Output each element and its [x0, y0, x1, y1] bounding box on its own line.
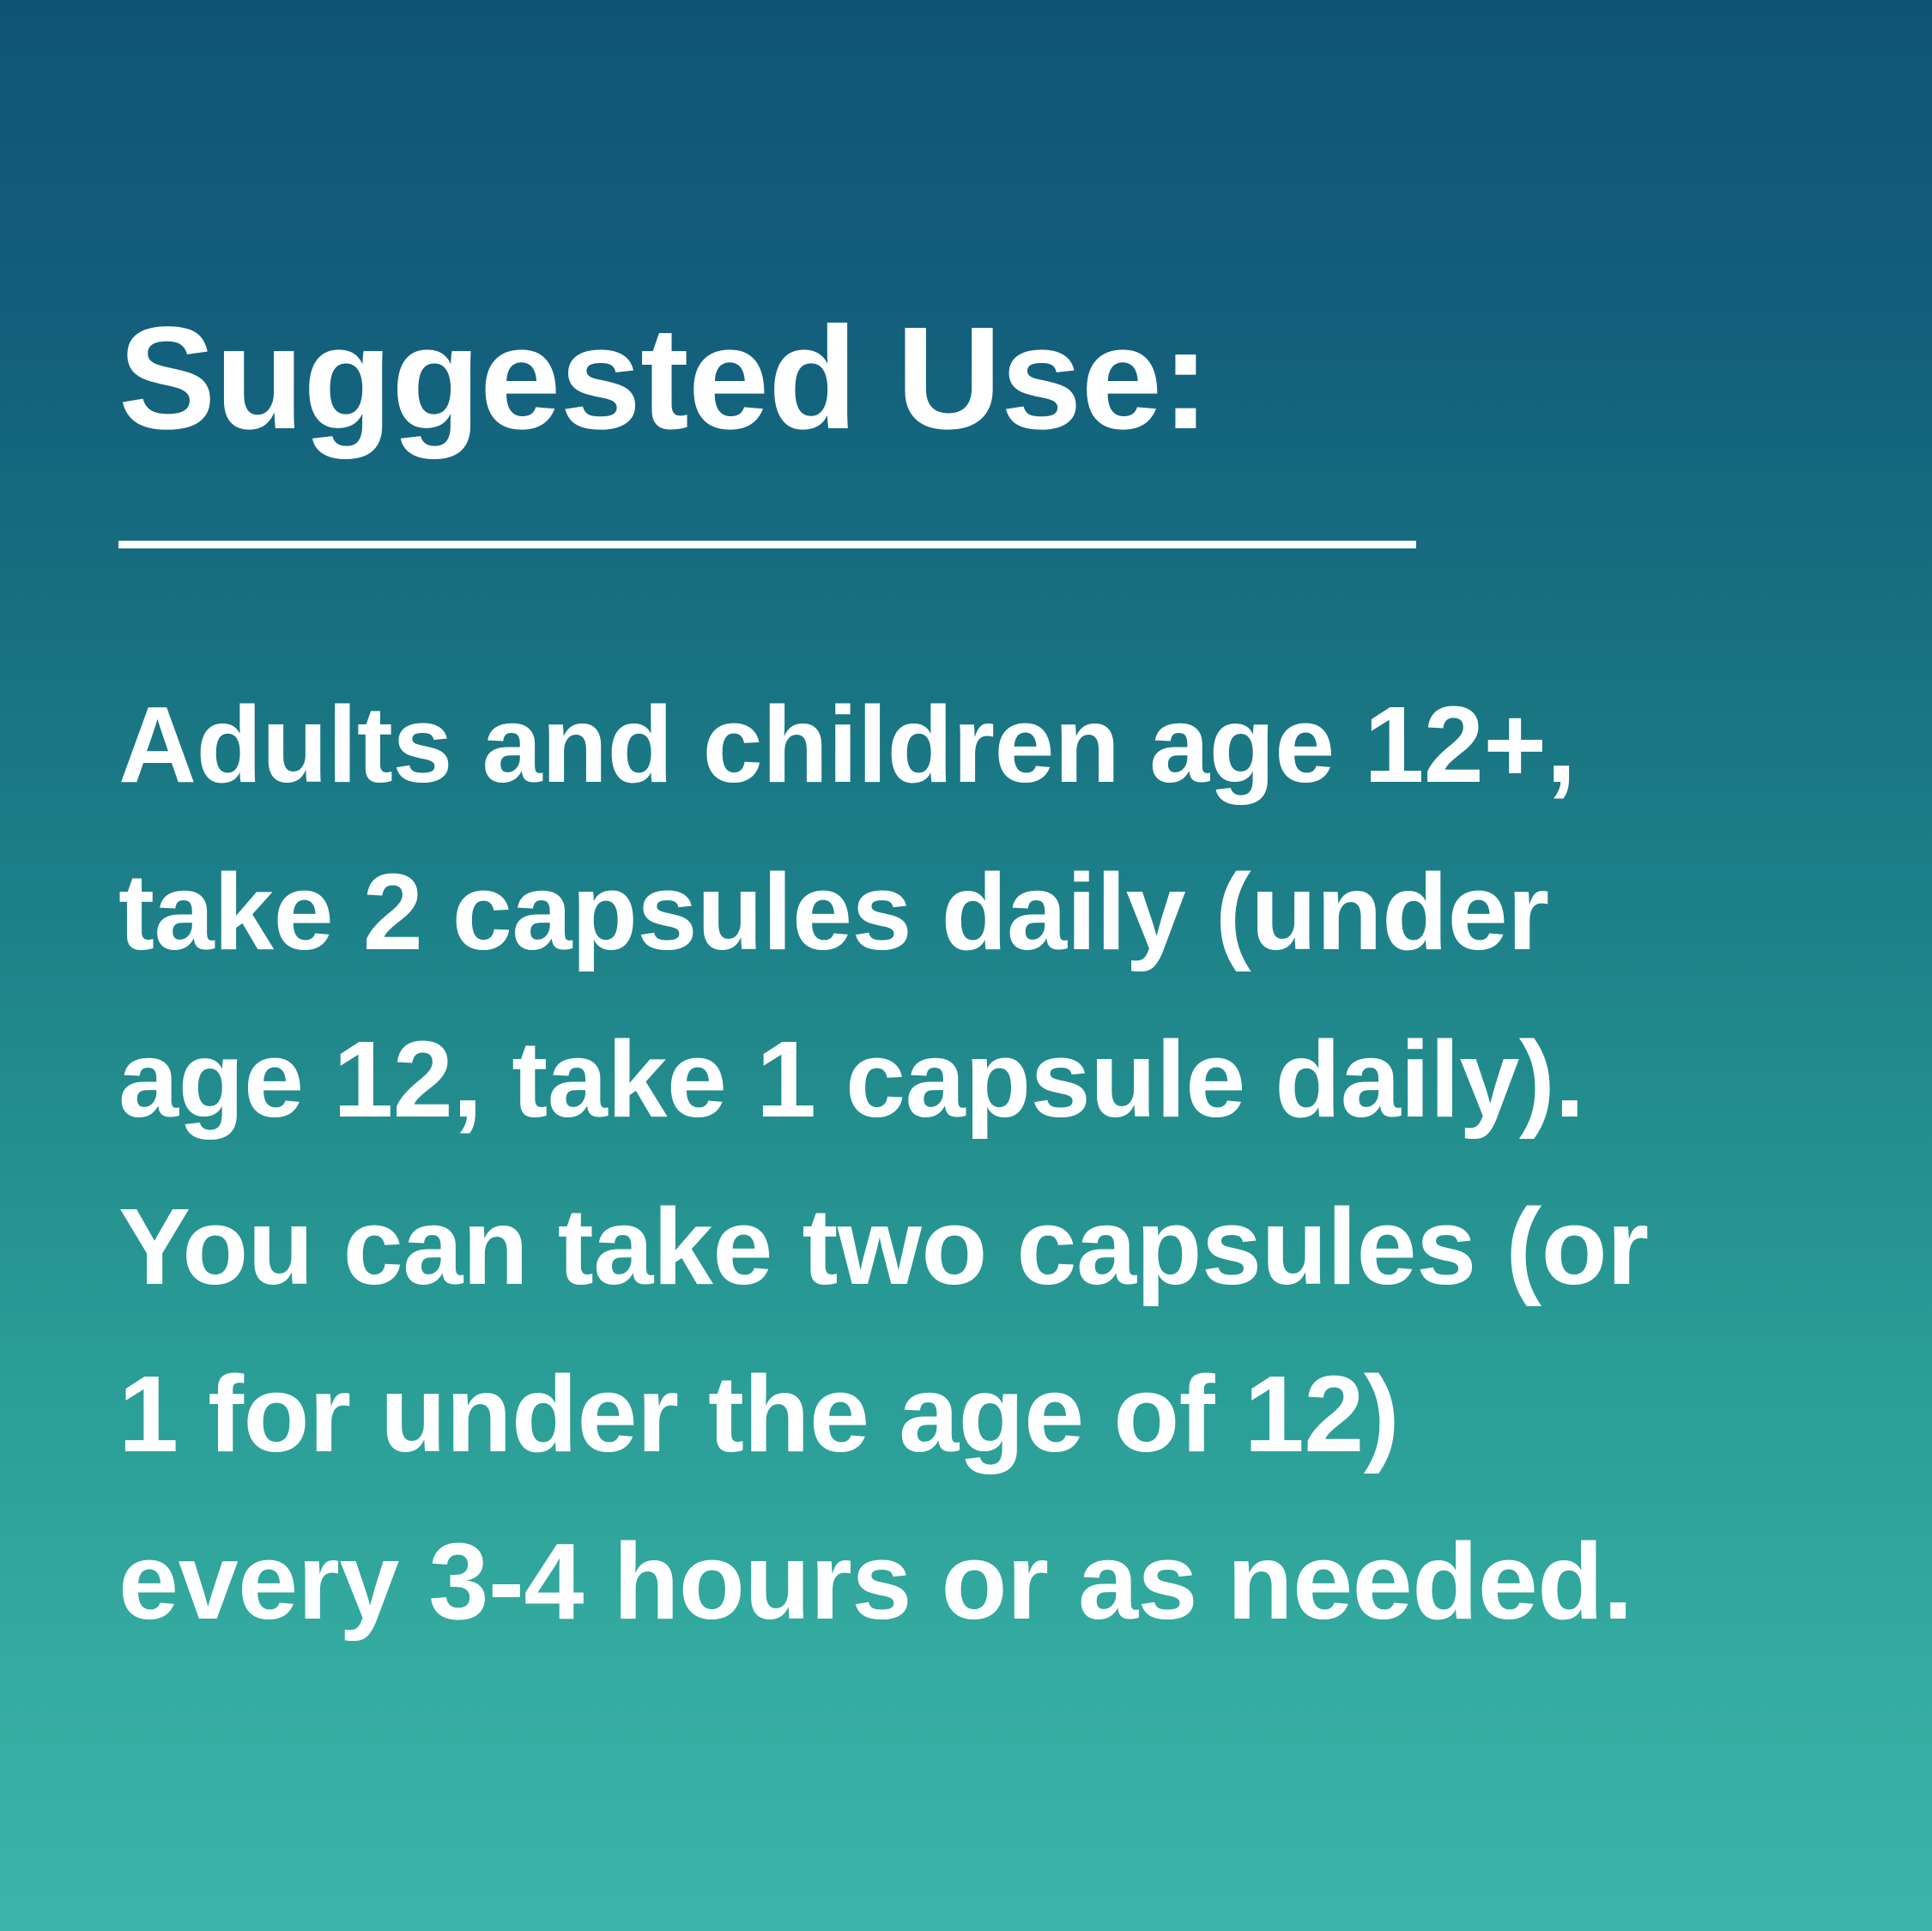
- body-line: age 12, take 1 capsule daily).: [118, 996, 1801, 1163]
- body-line: every 3-4 hours or as needed.: [118, 1498, 1801, 1665]
- body-line: 1 for under the age of 12): [118, 1330, 1801, 1498]
- heading-block: Suggested Use:: [118, 302, 1801, 456]
- suggested-use-card: Suggested Use: Adults and children age 1…: [0, 0, 1932, 1931]
- body-line: Adults and children age 12+,: [118, 661, 1801, 828]
- body-line: take 2 capsules daily (under: [118, 828, 1801, 996]
- suggested-use-body: Adults and children age 12+, take 2 caps…: [118, 661, 1801, 1665]
- heading-underline-rule: [118, 541, 1416, 548]
- body-line: You can take two capsules (or: [118, 1163, 1801, 1330]
- page-title: Suggested Use:: [118, 302, 1801, 456]
